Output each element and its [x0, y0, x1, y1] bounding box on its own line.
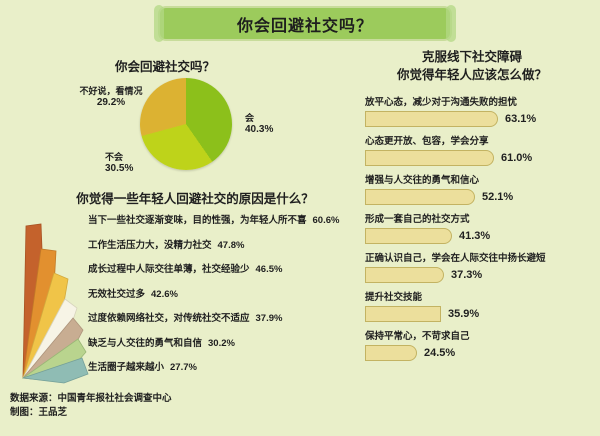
advice-bar-row: 63.1% — [347, 111, 597, 127]
fan-blades — [23, 224, 88, 383]
pie-label-2: 不好说，看情况 29.2% — [70, 86, 152, 110]
advice-bar-row: 37.3% — [347, 267, 597, 283]
reason-label: 缺乏与人交往的勇气和自信 — [88, 335, 202, 349]
advice-title-line1: 克服线下社交障碍 — [347, 48, 597, 66]
pie-label-0-value: 40.3% — [245, 124, 273, 137]
advice-value: 61.0% — [501, 152, 532, 164]
reason-label: 过度依赖网络社交，对传统社交不适应 — [88, 310, 250, 324]
advice-title-line2: 你觉得年轻人应该怎么做？ — [347, 66, 597, 84]
fan-chart — [8, 200, 94, 385]
reason-value: 37.9% — [256, 313, 283, 324]
advice-value: 63.1% — [505, 113, 536, 125]
advice-label: 保持平常心，不苛求自己 — [347, 328, 597, 342]
pie-label-1-name: 不会 — [105, 152, 133, 163]
pie-label-1: 不会 30.5% — [105, 152, 133, 176]
advice-bar-item: 保持平常心，不苛求自己 24.5% — [347, 328, 597, 361]
reason-label: 无效社交过多 — [88, 286, 145, 300]
page-title: 你会回避社交吗？ — [160, 8, 450, 39]
reason-row: 工作生活压力大，没精力社交 47.8% — [88, 237, 358, 262]
title-banner: 你会回避社交吗？ — [160, 8, 450, 39]
advice-bar-fill — [365, 267, 444, 283]
advice-label: 心态更开放、包容，学会分享 — [347, 133, 597, 147]
pie-chart — [140, 78, 232, 170]
advice-label: 形成一套自己的社交方式 — [347, 211, 597, 225]
pie-label-2-value: 29.2% — [70, 97, 152, 110]
advice-value: 41.3% — [459, 230, 490, 242]
advice-bar-item: 形成一套自己的社交方式 41.3% — [347, 211, 597, 244]
reason-label: 成长过程中人际交往单薄，社交经验少 — [88, 261, 250, 275]
advice-value: 24.5% — [424, 347, 455, 359]
pie-slices — [140, 78, 232, 170]
pie-section-title: 你会回避社交吗？ — [60, 56, 270, 75]
advice-bar-fill — [365, 228, 452, 244]
advice-bar-row: 61.0% — [347, 150, 597, 166]
advice-label: 正确认识自己，学会在人际交往中扬长避短 — [347, 250, 597, 264]
reason-row: 缺乏与人交往的勇气和自信 30.2% — [88, 335, 358, 360]
advice-value: 35.9% — [448, 308, 479, 320]
reason-label: 生活圈子越来越小 — [88, 359, 164, 373]
advice-bar-item: 心态更开放、包容，学会分享 61.0% — [347, 133, 597, 166]
advice-section-title: 克服线下社交障碍 你觉得年轻人应该怎么做？ — [347, 48, 597, 84]
advice-bar-fill — [365, 306, 441, 322]
reason-row: 当下一些社交逐渐变味，目的性强，为年轻人所不喜 60.6% — [88, 212, 358, 237]
footer: 数据来源：中国青年报社社会调查中心 制图：王品芝 — [10, 392, 172, 420]
advice-bar-item: 放平心态，减少对于沟通失败的担忧 63.1% — [347, 94, 597, 127]
advice-label: 放平心态，减少对于沟通失败的担忧 — [347, 94, 597, 108]
advice-value: 52.1% — [482, 191, 513, 203]
advice-bar-row: 41.3% — [347, 228, 597, 244]
advice-bar-item: 正确认识自己，学会在人际交往中扬长避短 37.3% — [347, 250, 597, 283]
reason-value: 60.6% — [313, 215, 340, 226]
reason-label: 工作生活压力大，没精力社交 — [88, 237, 212, 251]
advice-bar-item: 提升社交技能 35.9% — [347, 289, 597, 322]
reason-row: 生活圈子越来越小 27.7% — [88, 359, 358, 384]
chart-credit: 制图：王品芝 — [10, 406, 172, 420]
reason-value: 47.8% — [218, 240, 245, 251]
advice-bar-fill — [365, 111, 498, 127]
advice-bar-fill — [365, 345, 417, 361]
infographic-page: 你会回避社交吗？ 你会回避社交吗？ 会 40.3% 不会 30.5% 不好说，看… — [0, 0, 600, 436]
advice-value: 37.3% — [451, 269, 482, 281]
pie-label-2-name: 不好说，看情况 — [70, 86, 152, 97]
advice-label: 提升社交技能 — [347, 289, 597, 303]
reason-row: 成长过程中人际交往单薄，社交经验少 46.5% — [88, 261, 358, 286]
pie-label-0: 会 40.3% — [245, 113, 273, 137]
reason-value: 27.7% — [170, 362, 197, 373]
advice-bar-item: 增强与人交往的勇气和信心 52.1% — [347, 172, 597, 205]
advice-bar-row: 52.1% — [347, 189, 597, 205]
reason-value: 30.2% — [208, 338, 235, 349]
reason-value: 46.5% — [256, 264, 283, 275]
pie-label-0-name: 会 — [245, 113, 273, 124]
reason-list: 当下一些社交逐渐变味，目的性强，为年轻人所不喜 60.6% 工作生活压力大，没精… — [88, 212, 358, 384]
advice-label: 增强与人交往的勇气和信心 — [347, 172, 597, 186]
advice-section: 克服线下社交障碍 你觉得年轻人应该怎么做？ 放平心态，减少对于沟通失败的担忧 6… — [347, 48, 597, 367]
advice-bar-row: 35.9% — [347, 306, 597, 322]
reason-value: 42.6% — [151, 289, 178, 300]
reason-label: 当下一些社交逐渐变味，目的性强，为年轻人所不喜 — [88, 212, 307, 226]
advice-bar-row: 24.5% — [347, 345, 597, 361]
reason-row: 无效社交过多 42.6% — [88, 286, 358, 311]
reason-row: 过度依赖网络社交，对传统社交不适应 37.9% — [88, 310, 358, 335]
pie-label-1-value: 30.5% — [105, 163, 133, 176]
advice-bar-fill — [365, 150, 494, 166]
advice-bar-fill — [365, 189, 475, 205]
data-source: 数据来源：中国青年报社社会调查中心 — [10, 392, 172, 406]
